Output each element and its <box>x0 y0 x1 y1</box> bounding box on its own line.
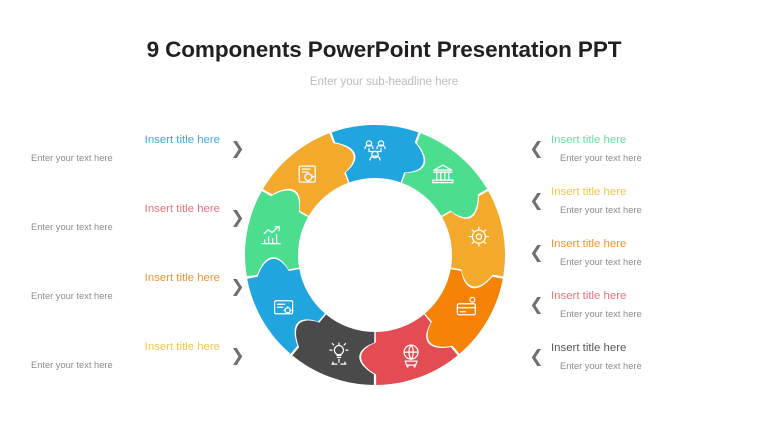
left-label-title-3: Insert title here <box>145 271 220 285</box>
chevron-left-icon: ❮ <box>528 189 545 213</box>
right-label-desc-2: Enter your text here <box>560 204 642 217</box>
left-label-item-1[interactable]: Insert title here Enter your text here ❯ <box>14 133 246 165</box>
right-label-title-5: Insert title here <box>551 341 626 355</box>
left-label-desc-3: Enter your text here <box>31 290 113 303</box>
puzzle-segment-bottom[interactable] <box>292 314 374 385</box>
right-label-title-3: Insert title here <box>551 237 626 251</box>
right-label-item-1[interactable]: ❮ Insert title here Enter your text here <box>528 133 764 165</box>
left-label-text-2: Insert title here Enter your text here <box>14 202 220 234</box>
right-label-title-1: Insert title here <box>551 133 626 147</box>
right-label-title-2: Insert title here <box>551 185 626 199</box>
left-label-title-4: Insert title here <box>145 340 220 354</box>
left-label-title-1: Insert title here <box>145 133 220 147</box>
left-label-item-2[interactable]: Insert title here Enter your text here ❯ <box>14 202 246 234</box>
right-label-item-4[interactable]: ❮ Insert title here Enter your text here <box>528 289 764 321</box>
right-label-item-3[interactable]: ❮ Insert title here Enter your text here <box>528 237 764 269</box>
right-label-item-2[interactable]: ❮ Insert title here Enter your text here <box>528 185 764 217</box>
left-label-text-3: Insert title here Enter your text here <box>14 271 220 303</box>
left-label-item-4[interactable]: Insert title here Enter your text here ❯ <box>14 340 246 372</box>
left-label-desc-4: Enter your text here <box>31 359 113 372</box>
page-title: 9 Components PowerPoint Presentation PPT <box>0 0 768 63</box>
right-label-item-5[interactable]: ❮ Insert title here Enter your text here <box>528 341 764 373</box>
header: 9 Components PowerPoint Presentation PPT… <box>0 0 768 88</box>
right-label-text-4: Insert title here Enter your text here <box>551 289 764 321</box>
right-label-desc-3: Enter your text here <box>560 256 642 269</box>
right-label-desc-4: Enter your text here <box>560 308 642 321</box>
page-subtitle: Enter your sub-headline here <box>0 63 768 88</box>
right-label-text-1: Insert title here Enter your text here <box>551 133 764 165</box>
chevron-left-icon: ❮ <box>528 137 545 161</box>
puzzle-ring-diagram <box>237 117 513 393</box>
left-label-item-3[interactable]: Insert title here Enter your text here ❯ <box>14 271 246 303</box>
left-label-desc-1: Enter your text here <box>31 152 113 165</box>
right-label-desc-1: Enter your text here <box>560 152 642 165</box>
right-label-text-3: Insert title here Enter your text here <box>551 237 764 269</box>
right-label-text-5: Insert title here Enter your text here <box>551 341 764 373</box>
chevron-left-icon: ❮ <box>528 293 545 317</box>
left-label-text-1: Insert title here Enter your text here <box>14 133 220 165</box>
chevron-left-icon: ❮ <box>528 345 545 369</box>
left-label-title-2: Insert title here <box>145 202 220 216</box>
right-label-title-4: Insert title here <box>551 289 626 303</box>
left-label-desc-2: Enter your text here <box>31 221 113 234</box>
right-label-text-2: Insert title here Enter your text here <box>551 185 764 217</box>
left-label-text-4: Insert title here Enter your text here <box>14 340 220 372</box>
right-label-desc-5: Enter your text here <box>560 360 642 373</box>
chevron-left-icon: ❮ <box>528 241 545 265</box>
